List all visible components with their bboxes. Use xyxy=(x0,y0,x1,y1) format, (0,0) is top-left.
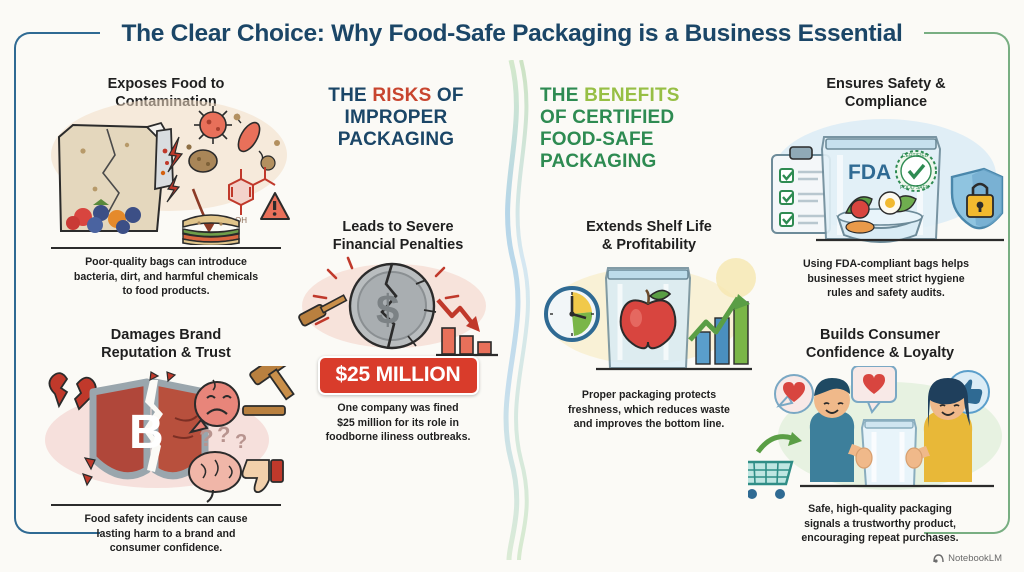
panel-financial: Leads to Severe Financial Penalties $ xyxy=(296,219,500,444)
column-heading-benefits: THE BENEFITS OF CERTIFIED FOOD-SAFE PACK… xyxy=(540,85,750,173)
panel-consumer-caption: Safe, high-quality packaging signals a t… xyxy=(746,502,1014,545)
shield-brand-letter: B xyxy=(129,406,164,459)
infographic-canvas: The Clear Choice: Why Food-Safe Packagin… xyxy=(0,0,1024,572)
panel-compliance: Ensures Safety & Compliance xyxy=(762,76,1010,300)
consumer-illustration xyxy=(748,366,1012,500)
svg-text:?: ? xyxy=(199,425,214,452)
financial-illustration: $ xyxy=(296,254,500,372)
panel-compliance-title: Ensures Safety & Compliance xyxy=(762,76,1010,111)
svg-text:?: ? xyxy=(217,422,230,447)
compliance-illustration: FDA CERTIFIED FOOD SAFE xyxy=(764,113,1008,253)
panel-compliance-caption: Using FDA-compliant bags helps businesse… xyxy=(762,257,1010,300)
contamination-illustration: OH xyxy=(37,93,295,245)
notebooklm-logo-icon xyxy=(933,553,944,564)
panel-shelf-life-caption: Proper packaging protects freshness, whi… xyxy=(540,388,758,431)
notebooklm-watermark: NotebookLM xyxy=(933,553,1002,564)
panel-brand: Damages Brand Reputation & Trust xyxy=(34,327,298,555)
panel-consumer: Builds Consumer Confidence & Loyalty xyxy=(746,327,1014,545)
seal-top-text: CERTIFIED xyxy=(902,153,929,159)
fda-bag-label: FDA xyxy=(848,161,891,184)
brand-rule xyxy=(51,504,281,506)
risks-highlight: RISKS xyxy=(372,85,431,106)
panel-shelf-life-title: Extends Shelf Life & Profitability xyxy=(540,219,758,254)
svg-text:$: $ xyxy=(376,286,399,333)
shelf-life-illustration xyxy=(540,256,758,384)
svg-text:?: ? xyxy=(235,431,247,453)
panel-financial-caption: One company was fined $25 million for it… xyxy=(296,401,500,444)
money-badge-wrap: $25 MILLION xyxy=(296,356,500,395)
seal-bottom-text: FOOD SAFE xyxy=(900,185,930,191)
panel-brand-title: Damages Brand Reputation & Trust xyxy=(34,327,298,362)
center-divider xyxy=(485,60,545,560)
panel-brand-caption: Food safety incidents can cause lasting … xyxy=(34,512,298,555)
benefits-highlight: BENEFITS xyxy=(584,85,680,106)
brand-illustration: B ? ? ? xyxy=(37,366,295,504)
panel-consumer-title: Builds Consumer Confidence & Loyalty xyxy=(746,327,1014,362)
panel-financial-title: Leads to Severe Financial Penalties xyxy=(296,219,500,254)
page-title: The Clear Choice: Why Food-Safe Packagin… xyxy=(0,20,1024,48)
fine-amount-badge: $25 MILLION xyxy=(318,356,479,395)
notebooklm-label: NotebookLM xyxy=(948,553,1002,564)
contamination-rule xyxy=(51,247,281,249)
panel-contamination: Exposes Food to Contamination xyxy=(34,76,298,298)
column-heading-risks: THE RISKS OF IMPROPER PACKAGING xyxy=(296,85,496,151)
panel-contamination-caption: Poor-quality bags can introduce bacteria… xyxy=(34,255,298,298)
panel-shelf-life: Extends Shelf Life & Profitability xyxy=(540,219,758,431)
